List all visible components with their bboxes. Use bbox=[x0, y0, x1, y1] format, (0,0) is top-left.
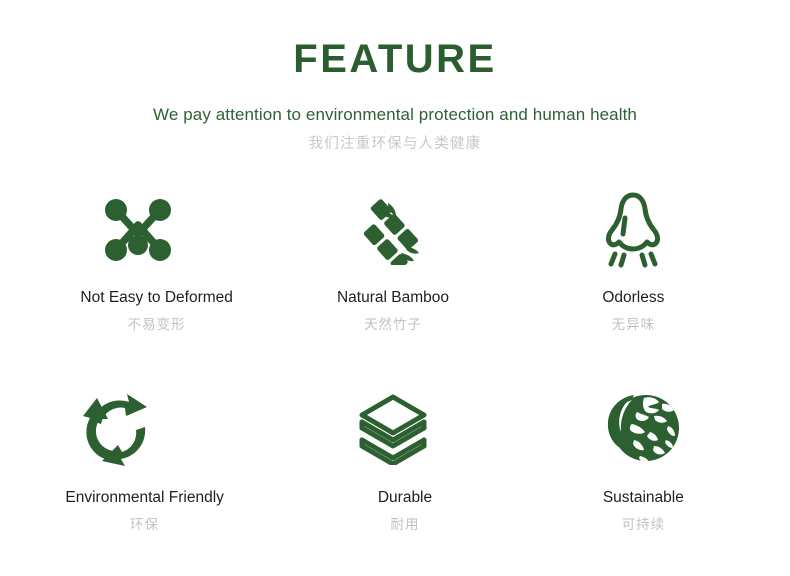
feature-item: Not Easy to Deformed 不易变形 bbox=[0, 180, 263, 376]
feature-label-cn: 耐用 bbox=[390, 517, 419, 534]
subtitle-english: We pay attention to environmental protec… bbox=[0, 105, 790, 125]
feature-item: Natural Bamboo 天然竹子 bbox=[263, 180, 526, 376]
feature-label-cn: 无异味 bbox=[612, 317, 656, 334]
feature-label-en: Not Easy to Deformed bbox=[80, 288, 232, 307]
recycle-icon bbox=[68, 380, 168, 476]
feature-item: Durable 耐用 bbox=[263, 376, 526, 572]
feature-label-cn: 环保 bbox=[130, 517, 159, 534]
subtitle-chinese: 我们注重环保与人类健康 bbox=[0, 136, 790, 153]
feature-label-en: Natural Bamboo bbox=[337, 288, 449, 307]
feature-grid: Not Easy to Deformed 不易变形 bbox=[0, 180, 790, 572]
feature-label-cn: 天然竹子 bbox=[364, 317, 422, 334]
feature-label-cn: 可持续 bbox=[622, 517, 666, 534]
feature-item: Odorless 无异味 bbox=[527, 180, 790, 376]
layers-stack-icon bbox=[343, 380, 443, 476]
page-title: FEATURE bbox=[0, 38, 790, 80]
feature-item: Environmental Friendly 环保 bbox=[0, 376, 263, 572]
feature-label-cn: 不易变形 bbox=[128, 317, 186, 334]
globe-leaf-icon bbox=[593, 380, 693, 476]
feature-label-en: Odorless bbox=[602, 288, 664, 307]
molecule-nodes-icon bbox=[88, 184, 188, 276]
bamboo-icon bbox=[342, 184, 442, 276]
feature-label-en: Durable bbox=[378, 488, 432, 507]
section-header: FEATURE We pay attention to environmenta… bbox=[0, 0, 790, 154]
feature-item: Sustainable 可持续 bbox=[527, 376, 790, 572]
feature-section: FEATURE We pay attention to environmenta… bbox=[0, 0, 790, 576]
nose-icon bbox=[583, 184, 683, 276]
feature-label-en: Sustainable bbox=[603, 488, 684, 507]
feature-label-en: Environmental Friendly bbox=[65, 488, 224, 507]
